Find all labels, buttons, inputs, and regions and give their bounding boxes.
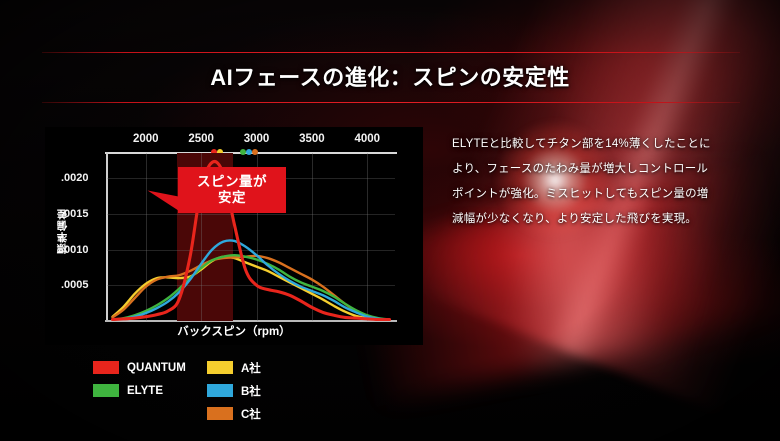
- chart-panel: 標準偏差 バックスピン（rpm） 20002500300035004000 .0…: [45, 127, 423, 345]
- chart-legend: QUANTUMELYTE A社B社C社: [45, 352, 423, 428]
- legend-swatch-icon: [93, 384, 119, 397]
- legend-item-B社[interactable]: B社: [207, 379, 261, 402]
- legend-label: A社: [241, 360, 261, 376]
- chart-x-axis-label: バックスピン（rpm）: [45, 323, 423, 339]
- legend-label: B社: [241, 383, 261, 399]
- legend-item-QUANTUM[interactable]: QUANTUM: [93, 356, 186, 379]
- chart-y-tick-2: .0015: [61, 208, 89, 220]
- chart-y-tick-3: .0020: [61, 172, 89, 184]
- callout-badge: スピン量が 安定: [178, 167, 286, 213]
- legend-swatch-icon: [207, 407, 233, 420]
- legend-column-a: QUANTUMELYTE: [93, 356, 186, 402]
- slide-root: AIフェースの進化：スピンの安定性 標準偏差 バックスピン（rpm） 20002…: [0, 0, 780, 441]
- chart-y-tick-1: .0010: [61, 244, 89, 256]
- legend-item-ELYTE[interactable]: ELYTE: [93, 379, 186, 402]
- chart-x-tick-3500: 3500: [299, 133, 325, 145]
- legend-item-C社[interactable]: C社: [207, 402, 261, 425]
- legend-label: QUANTUM: [127, 362, 186, 374]
- legend-column-b: A社B社C社: [207, 356, 261, 425]
- legend-item-A社[interactable]: A社: [207, 356, 261, 379]
- legend-label: C社: [241, 406, 261, 422]
- callout-line-2: 安定: [218, 190, 246, 206]
- chart-y-axis-label: 標準偏差: [14, 183, 110, 279]
- chart-y-tick-0: .0005: [61, 279, 89, 291]
- chart-x-tick-3000: 3000: [244, 133, 270, 145]
- body-copy-line-2: より、フェースのたわみ量が増大しコントロール: [452, 157, 744, 182]
- chart-x-tick-2500: 2500: [188, 133, 214, 145]
- legend-label: ELYTE: [127, 385, 163, 397]
- title-block: AIフェースの進化：スピンの安定性: [0, 52, 780, 108]
- chart-x-tick-2000: 2000: [133, 133, 159, 145]
- page-title: AIフェースの進化：スピンの安定性: [0, 60, 780, 92]
- body-copy: ELYTEと比較してチタン部を14%薄くしたことにより、フェースのたわみ量が増大…: [452, 132, 744, 232]
- legend-swatch-icon: [207, 384, 233, 397]
- chart-plot-wrapper: 標準偏差 バックスピン（rpm） 20002500300035004000 .0…: [45, 127, 423, 345]
- body-copy-line-4: 減幅が少なくなり、より安定した飛びを実現。: [452, 207, 744, 232]
- legend-swatch-icon: [207, 361, 233, 374]
- body-copy-line-3: ポイントが強化。ミスヒットしてもスピン量の増: [452, 182, 744, 207]
- title-rule-top: [42, 52, 740, 53]
- chart-x-tick-4000: 4000: [355, 133, 381, 145]
- body-copy-line-1: ELYTEと比較してチタン部を14%薄くしたことに: [452, 132, 744, 157]
- callout-line-1: スピン量が: [197, 174, 267, 190]
- title-rule-bottom: [42, 102, 740, 103]
- legend-swatch-icon: [93, 361, 119, 374]
